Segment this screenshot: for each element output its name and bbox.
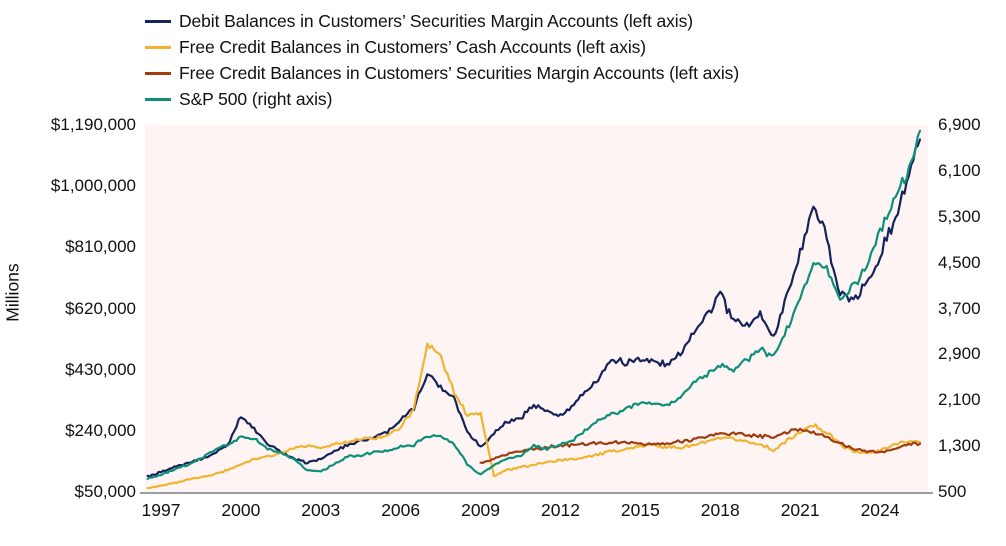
series-line-free-credit-cash [148,344,920,488]
y-tick-left-3: $620,000 [65,299,136,319]
x-axis-line [140,492,933,494]
series-line-sp500 [148,131,920,479]
series-lines [145,125,928,492]
y-tick-right-5: 4,500 [938,253,981,273]
y-tick-left-5: $1,000,000 [51,176,136,196]
x-tick-2: 2003 [301,500,340,521]
y-tick-right-4: 3,700 [938,299,981,319]
y-tick-right-3: 2,900 [938,344,981,364]
legend-label-0: Debit Balances in Customers’ Securities … [179,11,693,32]
legend-item-free-credit-margin[interactable]: Free Credit Balances in Customers’ Secur… [145,60,945,86]
x-tick-0: 1997 [142,500,181,521]
legend-label-1: Free Credit Balances in Customers’ Cash … [179,37,646,58]
series-line-free-credit-margin [481,429,920,463]
y-tick-left-1: $240,000 [65,421,136,441]
y-tick-left-4: $810,000 [65,237,136,257]
y-tick-left-2: $430,000 [65,360,136,380]
chart-root: Debit Balances in Customers’ Securities … [0,0,1006,546]
chart-legend: Debit Balances in Customers’ Securities … [145,8,945,112]
x-tick-6: 2015 [621,500,660,521]
x-tick-5: 2012 [541,500,580,521]
y-tick-right-0: 500 [938,482,966,502]
legend-label-2: Free Credit Balances in Customers’ Secur… [179,63,739,84]
y-tick-right-2: 2,100 [938,390,981,410]
plot-area [145,125,928,492]
legend-swatch-0 [145,20,171,23]
legend-swatch-3 [145,98,171,101]
x-tick-4: 2009 [461,500,500,521]
y-axis-left-ticks: $50,000$240,000$430,000$620,000$810,000$… [0,0,136,546]
legend-label-3: S&P 500 (right axis) [179,89,332,110]
x-tick-7: 2018 [701,500,740,521]
y-tick-left-0: $50,000 [75,482,136,502]
legend-swatch-2 [145,72,171,75]
y-tick-right-6: 5,300 [938,207,981,227]
legend-item-sp500[interactable]: S&P 500 (right axis) [145,86,945,112]
y-tick-right-1: 1,300 [938,436,981,456]
x-tick-9: 2024 [861,500,900,521]
x-tick-3: 2006 [381,500,420,521]
series-line-debit-balances-margin [148,139,920,476]
y-tick-right-8: 6,900 [938,115,981,135]
legend-swatch-1 [145,46,171,49]
y-axis-right-ticks: 5001,3002,1002,9003,7004,5005,3006,1006,… [938,0,1006,546]
legend-item-free-credit-cash[interactable]: Free Credit Balances in Customers’ Cash … [145,34,945,60]
y-tick-left-6: $1,190,000 [51,115,136,135]
y-tick-right-7: 6,100 [938,161,981,181]
x-tick-8: 2021 [781,500,820,521]
x-tick-1: 2000 [221,500,260,521]
legend-item-debit-balances-margin[interactable]: Debit Balances in Customers’ Securities … [145,8,945,34]
